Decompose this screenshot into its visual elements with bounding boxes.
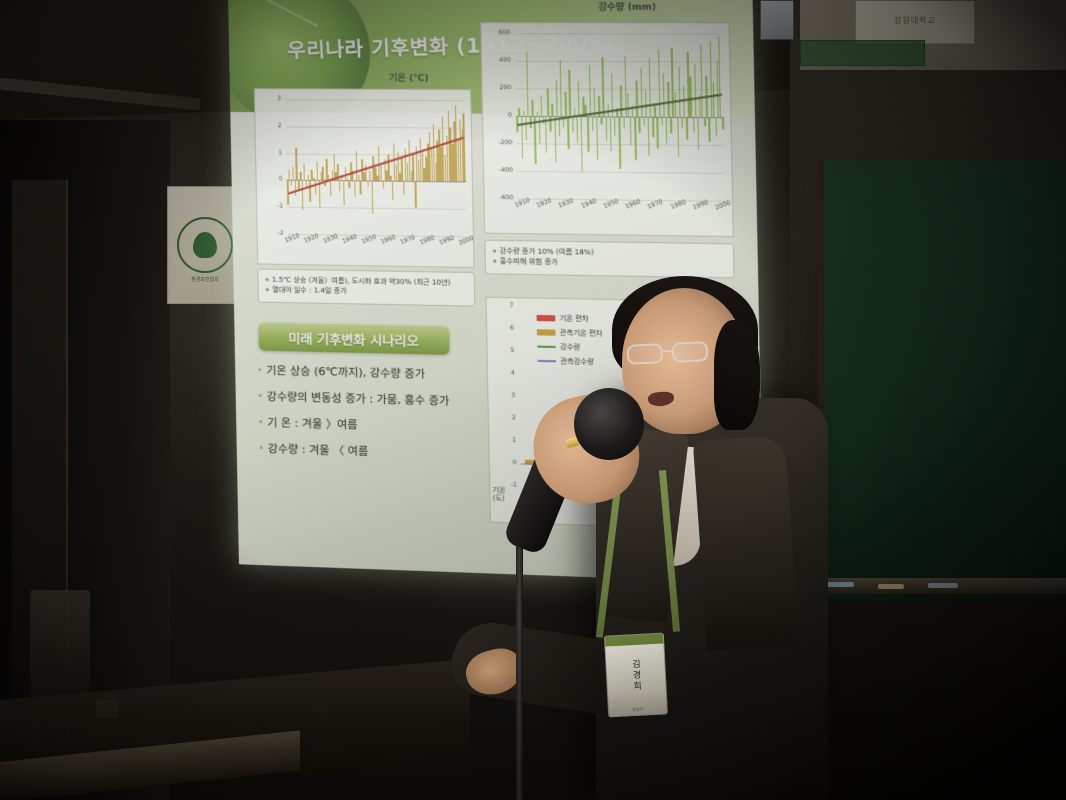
wall-poster: 강원대학교 [855, 0, 975, 44]
chart-bar [302, 180, 304, 210]
chart-bar [601, 116, 603, 124]
chart-bar [715, 117, 717, 135]
chart-bar [303, 164, 305, 180]
chart-bar [343, 181, 345, 205]
chart-bar [371, 181, 373, 213]
chart-bar [554, 116, 556, 162]
chart-bar [339, 181, 341, 192]
chart-bar [677, 117, 679, 157]
chart-bar [627, 93, 629, 117]
chart-bar [602, 57, 605, 117]
badge-footer-text: 발표자 [609, 705, 667, 714]
legend-item: 관측기온 편차 [537, 327, 603, 339]
chart-bar [686, 117, 688, 139]
chalkboard [818, 160, 1066, 600]
chart-bar [294, 180, 296, 196]
chart-bar [380, 165, 382, 181]
scenario-bullet: 기온 상승 (6℃까지), 강수량 증가 [257, 365, 475, 381]
eyeglasses-bridge [662, 350, 674, 352]
chart-bar [518, 108, 520, 116]
chart-bar [661, 117, 663, 125]
legend-item: 기온 편차 [537, 313, 589, 324]
temperature-axis-title: 기온 (℃) [389, 71, 429, 84]
chart-bar [589, 65, 591, 116]
chart-bar [354, 181, 356, 197]
chart-bar [567, 116, 569, 149]
y-axis-tick: 400 [486, 57, 511, 64]
y-axis-caption: (도) [492, 495, 505, 503]
chart-bar [291, 180, 293, 185]
chart-bar [630, 117, 632, 146]
chart-bar [614, 116, 616, 135]
precipitation-chart: 6004002000-200-400-600191019201930194019… [480, 22, 734, 237]
chart-bar [694, 64, 697, 117]
y-axis-tick: -1 [259, 203, 283, 210]
chart-bar [552, 104, 554, 116]
chart-bar [382, 181, 384, 189]
presenter-hair-side [714, 320, 760, 430]
chart-bar [649, 58, 652, 116]
y-axis-tick: 3 [490, 391, 515, 399]
chart-bar [697, 117, 699, 150]
chart-bar [576, 116, 578, 142]
scenario-bullet: 기 온 : 겨울 〉여름 [258, 417, 476, 434]
chart-bar [700, 45, 703, 117]
chart-bar [322, 167, 324, 180]
chart-bar [623, 117, 625, 129]
y-axis-tick: 1 [491, 436, 516, 444]
legend-swatch [537, 329, 556, 336]
legend-label: 관측강수량 [560, 356, 594, 367]
scenario-heading-label: 미래 기후변화 시나리오 [288, 328, 419, 350]
chart-bar [718, 36, 721, 117]
chart-bar [620, 86, 622, 116]
chart-bar [596, 116, 598, 160]
chart-bar [640, 68, 642, 117]
y-axis-tick: 0 [259, 176, 283, 183]
y-axis-caption-group: 기온(도) [492, 487, 506, 503]
chalk-piece [928, 583, 958, 588]
y-axis-tick: 200 [486, 84, 511, 91]
chart-bar [569, 71, 571, 117]
chart-bar [605, 116, 607, 141]
microphone-stand [516, 530, 523, 800]
eyeglasses-lens-left [627, 343, 664, 365]
y-axis-tick: 3 [257, 95, 281, 102]
chart-bar [636, 81, 638, 117]
chart-bar [578, 82, 580, 117]
precipitation-axis-title: 강수량 (mm) [598, 0, 656, 13]
legend-label: 관측기온 편차 [560, 328, 603, 339]
gridline [515, 61, 723, 63]
chart-bar [681, 117, 683, 128]
name-badge: 김경희 발표자 [604, 632, 668, 717]
lecture-hall-photo: 강원대학교 환경보전협회 우리나라 기후변화 (1912~2005) 기온 (℃… [0, 0, 1066, 800]
chart-bar [619, 116, 621, 169]
chart-bar [666, 117, 668, 143]
chart-bar [643, 117, 645, 127]
leaf-vein [237, 0, 319, 27]
chart-bar [392, 181, 394, 200]
gridline [514, 33, 722, 34]
chart-bar [300, 172, 302, 180]
chart-bar [634, 117, 636, 160]
microphone-head [574, 388, 644, 460]
chart-bar [367, 181, 369, 186]
chart-bar [463, 114, 466, 182]
chart-bar [690, 77, 692, 117]
chart-bar [670, 117, 672, 134]
legend-swatch [537, 346, 556, 348]
chart-bar [412, 154, 414, 181]
tree-glyph [193, 232, 217, 258]
x-axis-tick: 1910 [284, 232, 301, 244]
chart-bar [712, 82, 714, 117]
chart-bar [547, 88, 549, 116]
chart-bar [722, 117, 724, 130]
chart-bar [292, 167, 294, 180]
scenario-bullet-list: 기온 상승 (6℃까지), 강수량 증가 강수량의 변동성 증가 : 가뭄, 홍… [257, 365, 476, 476]
scenario-bullet: 강수량의 변동성 증가 : 가뭄, 홍수 증가 [258, 391, 476, 408]
y-axis-tick: 2 [257, 122, 281, 129]
chart-bar [683, 86, 685, 117]
gridline [517, 171, 725, 174]
chart-bar [532, 99, 534, 116]
y-axis-tick: 1 [258, 149, 282, 156]
chalk-piece [878, 584, 904, 589]
y-axis-tick: -400 [488, 167, 513, 174]
temperature-note-box: 1.5℃ 상승 (겨울〉여름), 도시화 효과 약30% (최근 10년) 열대… [257, 268, 475, 306]
chart-bar [704, 117, 706, 127]
chart-bar [587, 116, 589, 152]
chart-bar [652, 117, 654, 138]
chart-bar [709, 117, 711, 142]
y-axis-tick: -200 [488, 139, 513, 146]
scenario-heading-pill: 미래 기후변화 시나리오 [258, 323, 449, 355]
x-axis-tick: 1910 [513, 197, 530, 209]
chart-bar [349, 181, 351, 189]
y-axis-tick: 6 [489, 324, 514, 332]
chart-bar [289, 169, 291, 180]
badge-name-text: 김경희 [629, 658, 644, 692]
chart-bar [592, 116, 594, 130]
emblem-caption: 환경보전협회 [179, 276, 231, 283]
eyeglasses-lens-right [672, 341, 709, 363]
chart-bar [556, 80, 558, 116]
chart-bar [663, 74, 665, 117]
legend-swatch [537, 315, 556, 321]
y-axis-tick: -600 [489, 194, 514, 201]
scenario-bullet: 강수량 : 겨울 〈 여름 [259, 443, 477, 460]
y-axis-tick: 0 [492, 459, 517, 467]
chart-bar [369, 170, 371, 181]
precipitation-plot-area: 6004002000-200-400-600191019201930194019… [481, 23, 733, 236]
chart-bar [565, 91, 567, 116]
y-axis-tick: 7 [489, 302, 514, 310]
note-line: 홍수피해 위험 증가 [493, 256, 726, 270]
y-axis-tick: -2 [260, 229, 284, 236]
gridline [287, 207, 466, 210]
y-axis-tick: 0 [487, 112, 512, 119]
chart-bar [572, 116, 574, 133]
chart-bar [657, 117, 659, 149]
gridline [286, 126, 465, 128]
chart-bar [639, 117, 641, 134]
y-axis-tick: 5 [490, 347, 515, 355]
precipitation-note-box: 강수량 증가 10% (여름 18%) 홍수피해 위험 증가 [484, 240, 734, 279]
chart-bar [678, 67, 680, 117]
chart-bar [648, 117, 650, 156]
chart-bar [401, 157, 403, 181]
chart-bar [540, 95, 542, 116]
chart-bar [610, 116, 612, 151]
chart-bar [360, 181, 362, 195]
door-sign [760, 0, 794, 40]
legend-item: 관측강수량 [537, 356, 594, 367]
chart-bar [667, 82, 669, 117]
legend-item: 강수량 [537, 341, 580, 352]
temperature-chart: 3210-1-219101920193019401950196019701980… [254, 88, 475, 268]
badge-header-bar [605, 634, 663, 647]
y-axis-tick: 2 [491, 414, 516, 422]
chart-bar [658, 50, 661, 117]
legend-swatch [537, 360, 556, 362]
y-axis-tick: 4 [490, 369, 515, 377]
temperature-plot-area: 3210-1-219101920193019401950196019701980… [255, 89, 474, 267]
chart-bar [309, 180, 311, 202]
green-wall-board [800, 40, 925, 66]
legend-label: 강수량 [560, 342, 580, 353]
gridline [285, 99, 464, 101]
chart-bar [709, 42, 712, 117]
chart-bar [525, 116, 527, 141]
chart-bar [316, 161, 318, 180]
chart-bar [330, 180, 332, 196]
tree-emblem-icon: 환경보전협회 [177, 217, 233, 273]
chart-bar [693, 117, 695, 132]
jacket-lapel-right [693, 435, 799, 651]
legend-label: 기온 편차 [559, 313, 588, 324]
y-axis-tick: 600 [485, 29, 510, 36]
chart-bar [415, 181, 417, 208]
chart-bar [403, 181, 405, 195]
chart-bar [674, 92, 676, 117]
chart-bar [645, 90, 647, 116]
